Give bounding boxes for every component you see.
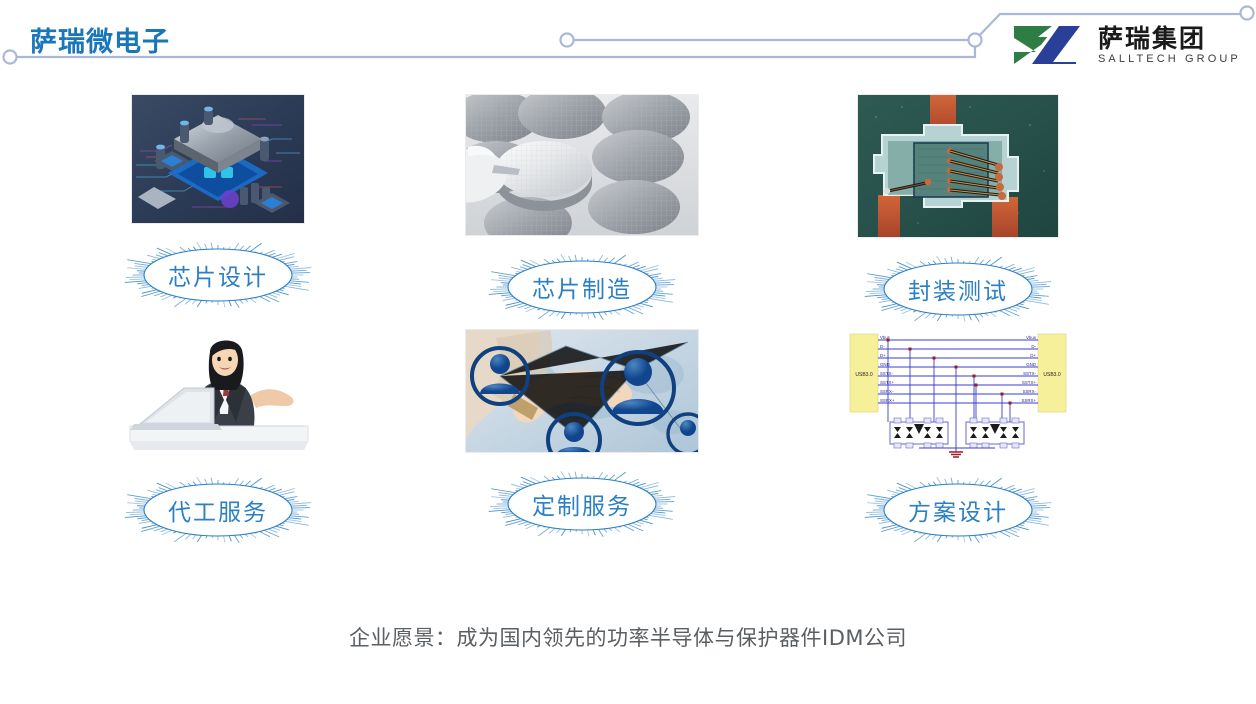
slide-root: 萨瑞微电子 萨瑞集团 SALLTECH GROUP	[0, 0, 1256, 704]
badge-label: 芯片制造	[466, 247, 698, 327]
capability-card-solution-design[interactable]: USB3.0 USB3.0 VbusVbusD-D-D+D+GNDGNDSSTX…	[788, 330, 1128, 550]
connector-left-label: USB3.0	[855, 372, 872, 378]
svg-text:D-: D-	[1031, 344, 1036, 349]
svg-text:SSTX-: SSTX-	[1023, 371, 1036, 376]
logo-text-block: 萨瑞集团 SALLTECH GROUP	[1098, 26, 1241, 65]
badge-packaging-test: 封装测试	[842, 249, 1074, 329]
header-node-left	[4, 51, 17, 64]
logo-name-en: SALLTECH GROUP	[1098, 54, 1241, 65]
chip-design-thumbnail	[132, 95, 304, 223]
badge-solution-design: 方案设计	[842, 470, 1074, 550]
badge-foundry-service: 代工服务	[102, 470, 334, 550]
capability-card-chip-design[interactable]: 芯片设计	[48, 95, 388, 315]
solution-design-thumbnail: USB3.0 USB3.0 VbusVbusD-D-D+D+GNDGNDSSTX…	[846, 330, 1070, 458]
svg-text:GND: GND	[1026, 362, 1036, 367]
packaging-test-thumbnail	[858, 95, 1058, 237]
capability-card-chip-manufacturing[interactable]: 芯片制造	[412, 95, 752, 327]
svg-text:D+: D+	[1030, 353, 1036, 358]
badge-custom-service: 定制服务	[466, 464, 698, 544]
wafer-manufacturing-photo	[466, 95, 698, 235]
svg-text:D-: D-	[880, 344, 885, 349]
slide-header: 萨瑞微电子 萨瑞集团 SALLTECH GROUP	[0, 0, 1256, 90]
badge-chip-design: 芯片设计	[102, 235, 334, 315]
solution-design-schematic: USB3.0 USB3.0 VbusVbusD-D-D+D+GNDGNDSSTX…	[846, 330, 1070, 458]
custom-service-photo	[466, 330, 698, 452]
svg-text:SSRX-: SSRX-	[880, 389, 894, 394]
capability-grid: 芯片设计	[0, 95, 1256, 595]
foundry-service-illustration	[118, 330, 318, 458]
badge-label: 封装测试	[842, 249, 1074, 329]
badge-label: 代工服务	[102, 470, 334, 550]
foundry-service-thumbnail	[118, 330, 318, 458]
badge-chip-manufacturing: 芯片制造	[466, 247, 698, 327]
svg-text:SSRX+: SSRX+	[1021, 398, 1036, 403]
packaging-test-micrograph	[858, 95, 1058, 237]
svg-text:SSTX-: SSTX-	[880, 371, 893, 376]
svg-text:Vbus: Vbus	[1026, 335, 1037, 340]
logo-name-cn: 萨瑞集团	[1098, 26, 1241, 51]
header-node-junction	[969, 34, 982, 47]
header-node-right	[1241, 7, 1254, 20]
custom-service-thumbnail	[466, 330, 698, 452]
svg-text:SSRX-: SSRX-	[1023, 389, 1037, 394]
company-logo: 萨瑞集团 SALLTECH GROUP	[1012, 20, 1244, 70]
salltech-logo-mark	[1012, 22, 1090, 68]
svg-text:SSRX+: SSRX+	[880, 398, 895, 403]
capability-card-foundry-service[interactable]: 代工服务	[48, 330, 388, 550]
badge-label: 方案设计	[842, 470, 1074, 550]
header-node-mid	[561, 34, 574, 47]
badge-label: 定制服务	[466, 464, 698, 544]
connector-right-label: USB3.0	[1043, 372, 1060, 378]
chip-design-illustration	[132, 95, 304, 223]
svg-text:D+: D+	[880, 353, 886, 358]
vision-statement: 企业愿景：成为国内领先的功率半导体与保护器件IDM公司	[0, 622, 1256, 652]
wafer-manufacturing-thumbnail	[466, 95, 698, 235]
badge-label: 芯片设计	[102, 235, 334, 315]
capability-card-custom-service[interactable]: 定制服务	[412, 330, 752, 544]
svg-text:SSTX+: SSTX+	[880, 380, 894, 385]
capability-card-packaging-test[interactable]: 封装测试	[788, 95, 1128, 329]
page-title: 萨瑞微电子	[30, 20, 170, 59]
svg-text:SSTX+: SSTX+	[1022, 380, 1036, 385]
